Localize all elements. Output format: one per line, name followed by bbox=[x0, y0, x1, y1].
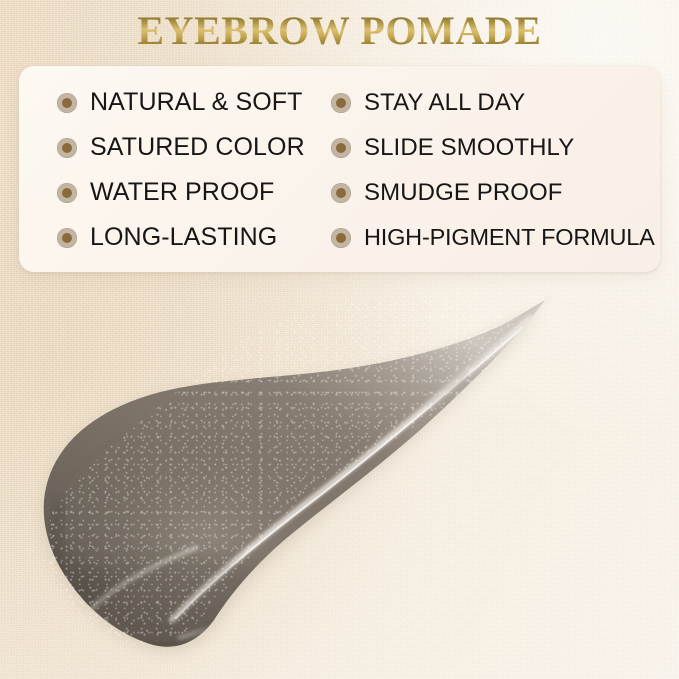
pomade-product-swatch bbox=[0, 280, 679, 679]
swatch-body bbox=[10, 290, 560, 662]
pomade-swatch-illustration bbox=[0, 280, 679, 679]
feature-label: HIGH-PIGMENT FORMULA bbox=[364, 224, 655, 251]
filled-circle-bullet-icon bbox=[331, 93, 351, 113]
filled-circle-bullet-icon bbox=[331, 183, 351, 203]
filled-circle-bullet-icon bbox=[331, 228, 351, 248]
feature-item-satured-color: SATURED COLOR bbox=[57, 125, 319, 170]
feature-item-high-pigment-formula: HIGH-PIGMENT FORMULA bbox=[331, 215, 660, 260]
feature-label: STAY ALL DAY bbox=[364, 89, 525, 116]
product-banner: EYEBROW POMADE NATURAL & SOFT SATURED CO… bbox=[0, 0, 679, 679]
feature-label: SATURED COLOR bbox=[90, 134, 305, 161]
feature-label: NATURAL & SOFT bbox=[90, 89, 303, 116]
feature-label: WATER PROOF bbox=[90, 179, 274, 206]
filled-circle-bullet-icon bbox=[57, 93, 77, 113]
feature-item-long-lasting: LONG-LASTING bbox=[57, 215, 319, 260]
feature-column-left: NATURAL & SOFT SATURED COLOR WATER PROOF… bbox=[19, 80, 319, 260]
feature-label: LONG-LASTING bbox=[90, 224, 277, 251]
feature-item-slide-smoothly: SLIDE SMOOTHLY bbox=[331, 125, 660, 170]
filled-circle-bullet-icon bbox=[331, 138, 351, 158]
feature-column-right: STAY ALL DAY SLIDE SMOOTHLY SMUDGE PROOF… bbox=[319, 80, 660, 260]
feature-label: SMUDGE PROOF bbox=[364, 179, 563, 206]
feature-item-water-proof: WATER PROOF bbox=[57, 170, 319, 215]
feature-label: SLIDE SMOOTHLY bbox=[364, 134, 574, 161]
page-title: EYEBROW POMADE bbox=[137, 8, 541, 54]
feature-item-smudge-proof: SMUDGE PROOF bbox=[331, 170, 660, 215]
filled-circle-bullet-icon bbox=[57, 228, 77, 248]
feature-list-card: NATURAL & SOFT SATURED COLOR WATER PROOF… bbox=[19, 66, 660, 272]
filled-circle-bullet-icon bbox=[57, 183, 77, 203]
title-container: EYEBROW POMADE bbox=[0, 8, 679, 54]
filled-circle-bullet-icon bbox=[57, 138, 77, 158]
feature-item-natural-and-soft: NATURAL & SOFT bbox=[57, 80, 319, 125]
feature-item-stay-all-day: STAY ALL DAY bbox=[331, 80, 660, 125]
